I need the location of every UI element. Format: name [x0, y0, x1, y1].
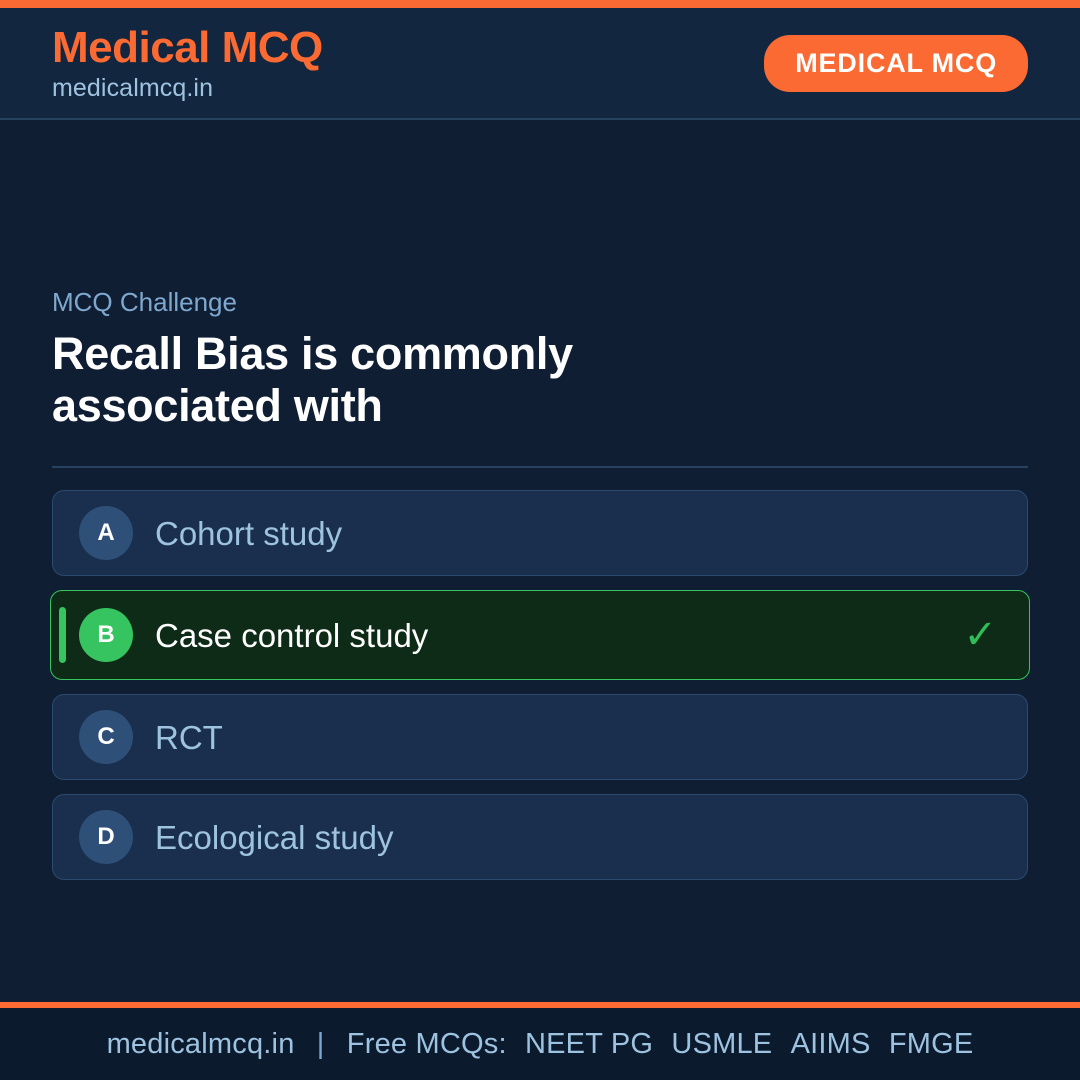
- option-letter-c: C: [79, 710, 133, 764]
- footer-exam-usmle: USMLE: [661, 1028, 772, 1061]
- option-letter-b: B: [79, 608, 133, 662]
- option-text-c: RCT: [155, 721, 223, 754]
- brand-subtitle: medicalmcq.in: [52, 76, 323, 101]
- top-accent-bar: [0, 0, 1080, 8]
- question-text: Recall Bias is commonly associated with: [52, 328, 782, 432]
- correct-accent-bar: [59, 607, 66, 663]
- page-footer: medicalmcq.in | Free MCQs: NEET PG USMLE…: [0, 1002, 1080, 1080]
- footer-text: medicalmcq.in | Free MCQs: NEET PG USMLE…: [107, 1028, 974, 1061]
- option-row-a[interactable]: A Cohort study ✓: [52, 490, 1028, 576]
- page-header: Medical MCQ medicalmcq.in MEDICAL MCQ: [0, 8, 1080, 120]
- mcq-card: Medical MCQ medicalmcq.in MEDICAL MCQ MC…: [0, 0, 1080, 1080]
- footer-separator: |: [303, 1028, 339, 1061]
- footer-free-label: Free MCQs:: [347, 1028, 507, 1060]
- option-row-d[interactable]: D Ecological study ✓: [52, 794, 1028, 880]
- brand: Medical MCQ medicalmcq.in: [52, 26, 323, 101]
- top-spacer: [52, 120, 1028, 288]
- footer-exam-fmge: FMGE: [879, 1028, 974, 1061]
- check-icon-b: ✓: [963, 615, 1003, 655]
- brand-title: Medical MCQ: [52, 26, 323, 70]
- option-text-a: Cohort study: [155, 517, 342, 550]
- footer-exam-neet-pg: NEET PG: [515, 1028, 653, 1061]
- option-text-b: Case control study: [155, 619, 428, 652]
- question-divider: [52, 466, 1028, 468]
- section-eyebrow: MCQ Challenge: [52, 288, 1028, 318]
- brand-badge: MEDICAL MCQ: [764, 35, 1028, 92]
- option-letter-a: A: [79, 506, 133, 560]
- option-row-b[interactable]: B Case control study ✓: [50, 590, 1030, 680]
- option-row-c[interactable]: C RCT ✓: [52, 694, 1028, 780]
- footer-site: medicalmcq.in: [107, 1028, 295, 1060]
- option-letter-d: D: [79, 810, 133, 864]
- footer-exam-aiims: AIIMS: [781, 1028, 871, 1061]
- options-list: A Cohort study ✓ B Case control study ✓ …: [52, 490, 1028, 880]
- main-content: MCQ Challenge Recall Bias is commonly as…: [0, 120, 1080, 1002]
- option-text-d: Ecological study: [155, 821, 393, 854]
